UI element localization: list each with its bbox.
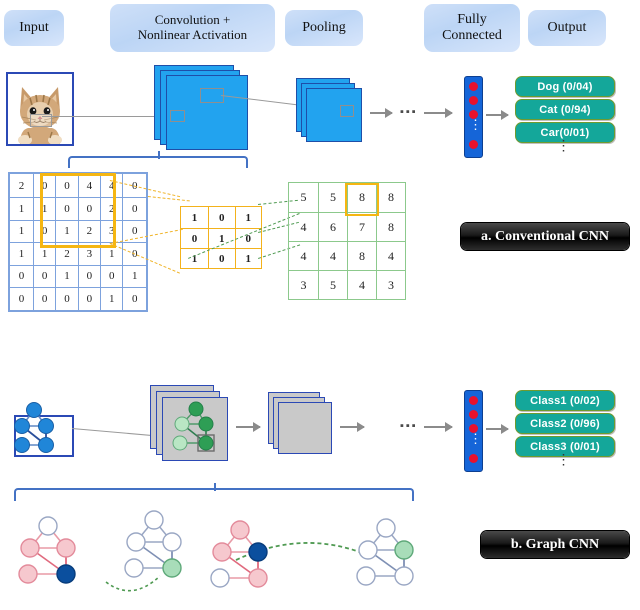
matrix-cell: 6: [319, 213, 348, 242]
cat-photo: [8, 74, 72, 144]
fully-connected-layer-graph: ⋮: [464, 390, 483, 472]
arrow-pool-to-ellipsis: [370, 112, 392, 114]
highlight-connector-upper: [148, 196, 190, 201]
matrix-row: 4484: [289, 242, 406, 271]
bracket-conv-detail: [68, 156, 248, 168]
matrix-cell: 0: [123, 198, 147, 221]
output-label-class2[interactable]: Class2 (0/96): [515, 413, 615, 434]
pool-receptive-box: [340, 105, 354, 117]
matrix-cell: 1: [101, 288, 123, 311]
output-label-dog[interactable]: Dog (0/04): [515, 76, 615, 97]
fully-connected-layer-cnn: ⋮: [464, 76, 483, 158]
fc-neuron-ellipsis: ⋮: [469, 123, 478, 127]
matrix-cell: 0: [78, 265, 100, 288]
fc-neuron-ellipsis: ⋮: [469, 437, 478, 441]
bracket-stem: [158, 151, 160, 159]
stage-label-convolution-line2: Nonlinear Activation: [138, 28, 247, 43]
matrix-row: 3543: [289, 271, 406, 300]
connector-input-to-conv: [42, 116, 160, 117]
matrix-cell: 1: [235, 207, 262, 229]
output-label-class2-text: Class2 (0/96): [530, 418, 600, 430]
arrow-fc-to-outputs-cnn: [486, 114, 508, 116]
matrix-cell: 1: [209, 229, 236, 249]
matrix-cell: 3: [377, 271, 406, 300]
matrix-cell: 7: [348, 213, 377, 242]
output-labels-ellipsis-graph: ⋮: [515, 459, 613, 463]
matrix-cell: 1: [123, 265, 147, 288]
arrow-ellipsis-to-fc: [424, 112, 452, 114]
matrix-cell: 0: [181, 229, 209, 249]
matrix-cell: 0: [34, 288, 56, 311]
stage-label-fc-line2: Connected: [442, 28, 502, 44]
matrix-cell: 4: [377, 242, 406, 271]
output-label-car-text: Car(0/01): [541, 127, 590, 139]
pipeline-ellipsis-graph: ▪▪▪: [400, 420, 418, 432]
matrix-row: 001001: [9, 265, 147, 288]
bracket-stem: [214, 483, 216, 491]
matrix-cell: 2: [9, 173, 34, 198]
graph-detail-1: [19, 517, 75, 583]
graph-input-diagram: [8, 388, 80, 460]
output-labels-ellipsis-cnn: ⋮: [515, 145, 613, 149]
output-cell-highlight: [345, 183, 379, 216]
input-image-frame: [6, 72, 74, 146]
matrix-cell: 5: [319, 271, 348, 300]
fc-neuron: [469, 410, 478, 419]
matrix-row: 101: [181, 207, 262, 229]
matrix-cell: 1: [9, 198, 34, 221]
stage-label-convolution: Convolution + Nonlinear Activation: [110, 4, 275, 52]
matrix-cell: 0: [9, 265, 34, 288]
output-label-class1-text: Class1 (0/02): [530, 395, 600, 407]
stage-label-input: Input: [4, 10, 64, 46]
matrix-cell: 0: [209, 249, 236, 269]
graph-detail-2: [125, 511, 181, 577]
stage-label-pooling-text: Pooling: [302, 20, 346, 36]
section-badge-b: b. Graph CNN: [481, 531, 629, 558]
matrix-cell: 4: [289, 213, 319, 242]
section-badge-b-text: b. Graph CNN: [511, 537, 599, 553]
arrow-graphconv-to-pool: [236, 426, 260, 428]
stage-label-output: Output: [528, 10, 606, 46]
stage-label-input-text: Input: [19, 20, 49, 36]
matrix-cell: 3: [289, 271, 319, 300]
matrix-cell: 4: [348, 271, 377, 300]
fc-neuron: [469, 140, 478, 149]
arrow-fc-to-outputs-graph: [486, 428, 508, 430]
matrix-cell: 0: [34, 265, 56, 288]
matrix-cell: 1: [9, 243, 34, 266]
matrix-cell: 5: [319, 183, 348, 213]
kernel-window-highlight: [40, 173, 116, 248]
matrix-cell: 0: [123, 288, 147, 311]
matrix-cell: 1: [181, 207, 209, 229]
stage-label-convolution-line1: Convolution +: [155, 13, 231, 28]
stage-label-fc-line1: Fully: [457, 12, 487, 28]
matrix-cell: 1: [56, 265, 78, 288]
matrix-cell: 4: [319, 242, 348, 271]
kernel-body: 101 010 101: [181, 207, 262, 269]
matrix-cell: 4: [289, 242, 319, 271]
matrix-cell: 8: [348, 242, 377, 271]
arrow-graphpool-to-ellipsis: [340, 426, 364, 428]
graph-pool-map-front: [278, 402, 332, 454]
matrix-row: 000010: [9, 288, 147, 311]
matrix-cell: 0: [209, 207, 236, 229]
arrow-ellipsis-to-fc-graph: [424, 426, 452, 428]
section-badge-a-text: a. Conventional CNN: [481, 229, 609, 245]
conv-receptive-box-small: [170, 110, 185, 122]
graph-conv-node-diagram: [162, 397, 226, 459]
output-label-class1[interactable]: Class1 (0/02): [515, 390, 615, 411]
graph-detail-illustrations: [14, 508, 434, 600]
matrix-cell: 8: [377, 213, 406, 242]
matrix-cell: 8: [377, 183, 406, 213]
output-label-cat[interactable]: Cat (0/94): [515, 99, 615, 120]
graph-detail-3: [211, 521, 267, 587]
fc-neuron: [469, 96, 478, 105]
matrix-cell: 0: [9, 288, 34, 311]
matrix-cell: 1: [9, 220, 34, 243]
graph-detail-4: [357, 519, 413, 585]
matrix-row: 4678: [289, 213, 406, 242]
stage-label-fully-connected: Fully Connected: [424, 4, 520, 52]
fc-neuron: [469, 396, 478, 405]
matrix-cell: 0: [78, 288, 100, 311]
fc-neuron: [469, 82, 478, 91]
fc-neuron: [469, 454, 478, 463]
pipeline-ellipsis-cnn: ▪▪▪: [400, 106, 418, 118]
matrix-cell: 0: [56, 288, 78, 311]
output-label-dog-text: Dog (0/04): [537, 81, 592, 93]
matrix-cell: 5: [289, 183, 319, 213]
output-label-class3-text: Class3 (0/01): [530, 441, 600, 453]
stage-label-output-text: Output: [548, 20, 587, 36]
matrix-cell: 0: [101, 265, 123, 288]
section-badge-a: a. Conventional CNN: [461, 223, 629, 250]
stage-label-pooling: Pooling: [285, 10, 363, 46]
matrix-row: 101: [181, 249, 262, 269]
bracket-graph-detail: [14, 488, 414, 501]
convolution-kernel: 101 010 101: [180, 206, 262, 269]
output-label-cat-text: Cat (0/94): [539, 104, 591, 116]
